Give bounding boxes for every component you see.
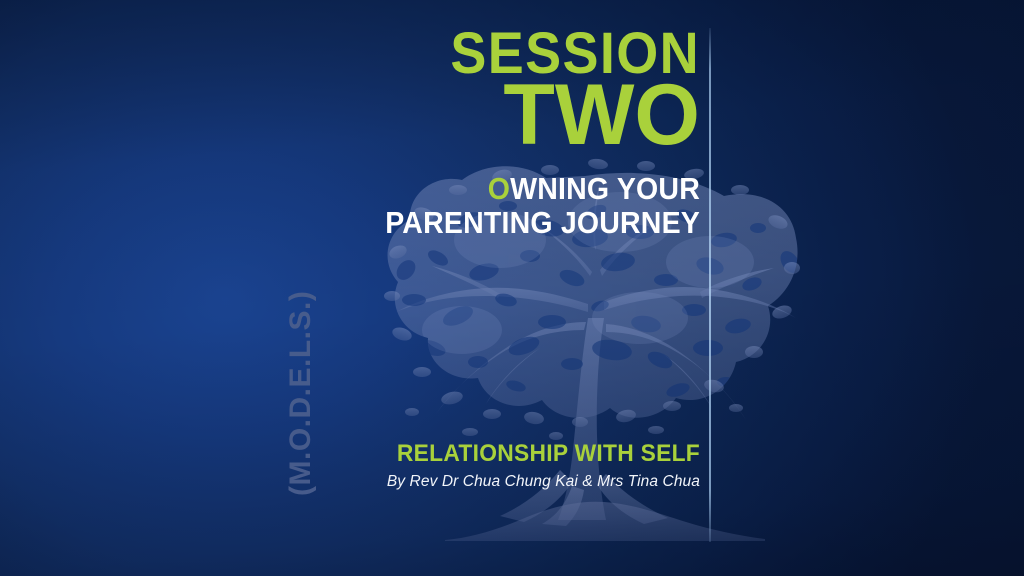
topic-title: RELATIONSHIP WITH SELF — [320, 440, 700, 468]
lower-text-block: RELATIONSHIP WITH SELF By Rev Dr Chua Ch… — [300, 440, 700, 491]
subtitle-initial-cap: O — [488, 171, 510, 206]
vertical-divider-line — [709, 28, 711, 542]
subtitle-line-1-rest: WNING YOUR — [510, 171, 700, 206]
headline-block: SESSION TWO OWNING YOUR PARENTING JOURNE… — [300, 28, 700, 239]
authors-line: By Rev Dr Chua Chung Kai & Mrs Tina Chua — [300, 473, 700, 491]
subtitle-line-1: OWNING YOUR — [332, 173, 700, 205]
presentation-slide: (M.O.D.E.L.S.) SESSION TWO OWNING YOUR P… — [0, 0, 1024, 576]
session-number-word: TWO — [308, 76, 700, 155]
subtitle-line-2: PARENTING JOURNEY — [332, 207, 700, 239]
